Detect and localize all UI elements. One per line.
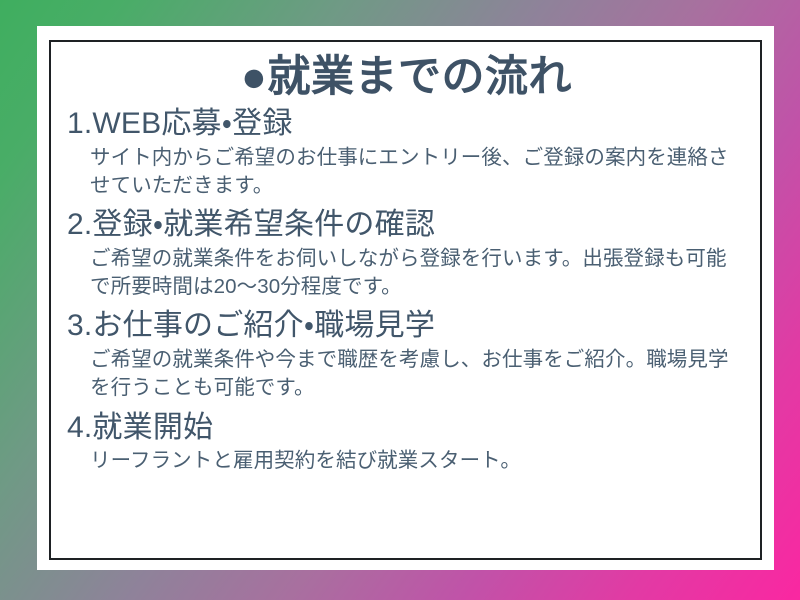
step-heading-2: 2.登録・就業希望条件の確認	[67, 207, 746, 244]
step-body-4: リーフラントと雇用契約を結び就業スタート。	[67, 447, 746, 475]
step-body-1: サイト内からご希望のお仕事にエントリー後、ご登録の案内を連絡させていただきます。	[67, 144, 746, 201]
steps-list: 1.WEB応募・登録 サイト内からご希望のお仕事にエントリー後、ご登録の案内を連…	[67, 106, 746, 475]
step-heading-1: 1.WEB応募・登録	[67, 106, 746, 143]
page-title: ●就業までの流れ	[67, 52, 746, 106]
step-body-2: ご希望の就業条件をお伺いしながら登録を行います。出張登録も可能で所要時間は20〜…	[67, 245, 746, 302]
step-heading-4: 4.就業開始	[67, 410, 746, 447]
poster-inner-border: ●就業までの流れ 1.WEB応募・登録 サイト内からご希望のお仕事にエントリー後…	[49, 40, 762, 560]
step-heading-3: 3.お仕事のご紹介・職場見学	[67, 308, 746, 345]
list-item: 2.登録・就業希望条件の確認 ご希望の就業条件をお伺いしながら登録を行います。出…	[67, 207, 746, 301]
list-item: 1.WEB応募・登録 サイト内からご希望のお仕事にエントリー後、ご登録の案内を連…	[67, 106, 746, 200]
poster-white-card: ●就業までの流れ 1.WEB応募・登録 サイト内からご希望のお仕事にエントリー後…	[37, 26, 774, 570]
list-item: 4.就業開始 リーフラントと雇用契約を結び就業スタート。	[67, 410, 746, 476]
step-body-3: ご希望の就業条件や今まで職歴を考慮し、お仕事をご紹介。職場見学を行うことも可能で…	[67, 346, 746, 403]
poster-gradient-frame: ●就業までの流れ 1.WEB応募・登録 サイト内からご希望のお仕事にエントリー後…	[0, 0, 800, 600]
list-item: 3.お仕事のご紹介・職場見学 ご希望の就業条件や今まで職歴を考慮し、お仕事をご紹…	[67, 308, 746, 402]
